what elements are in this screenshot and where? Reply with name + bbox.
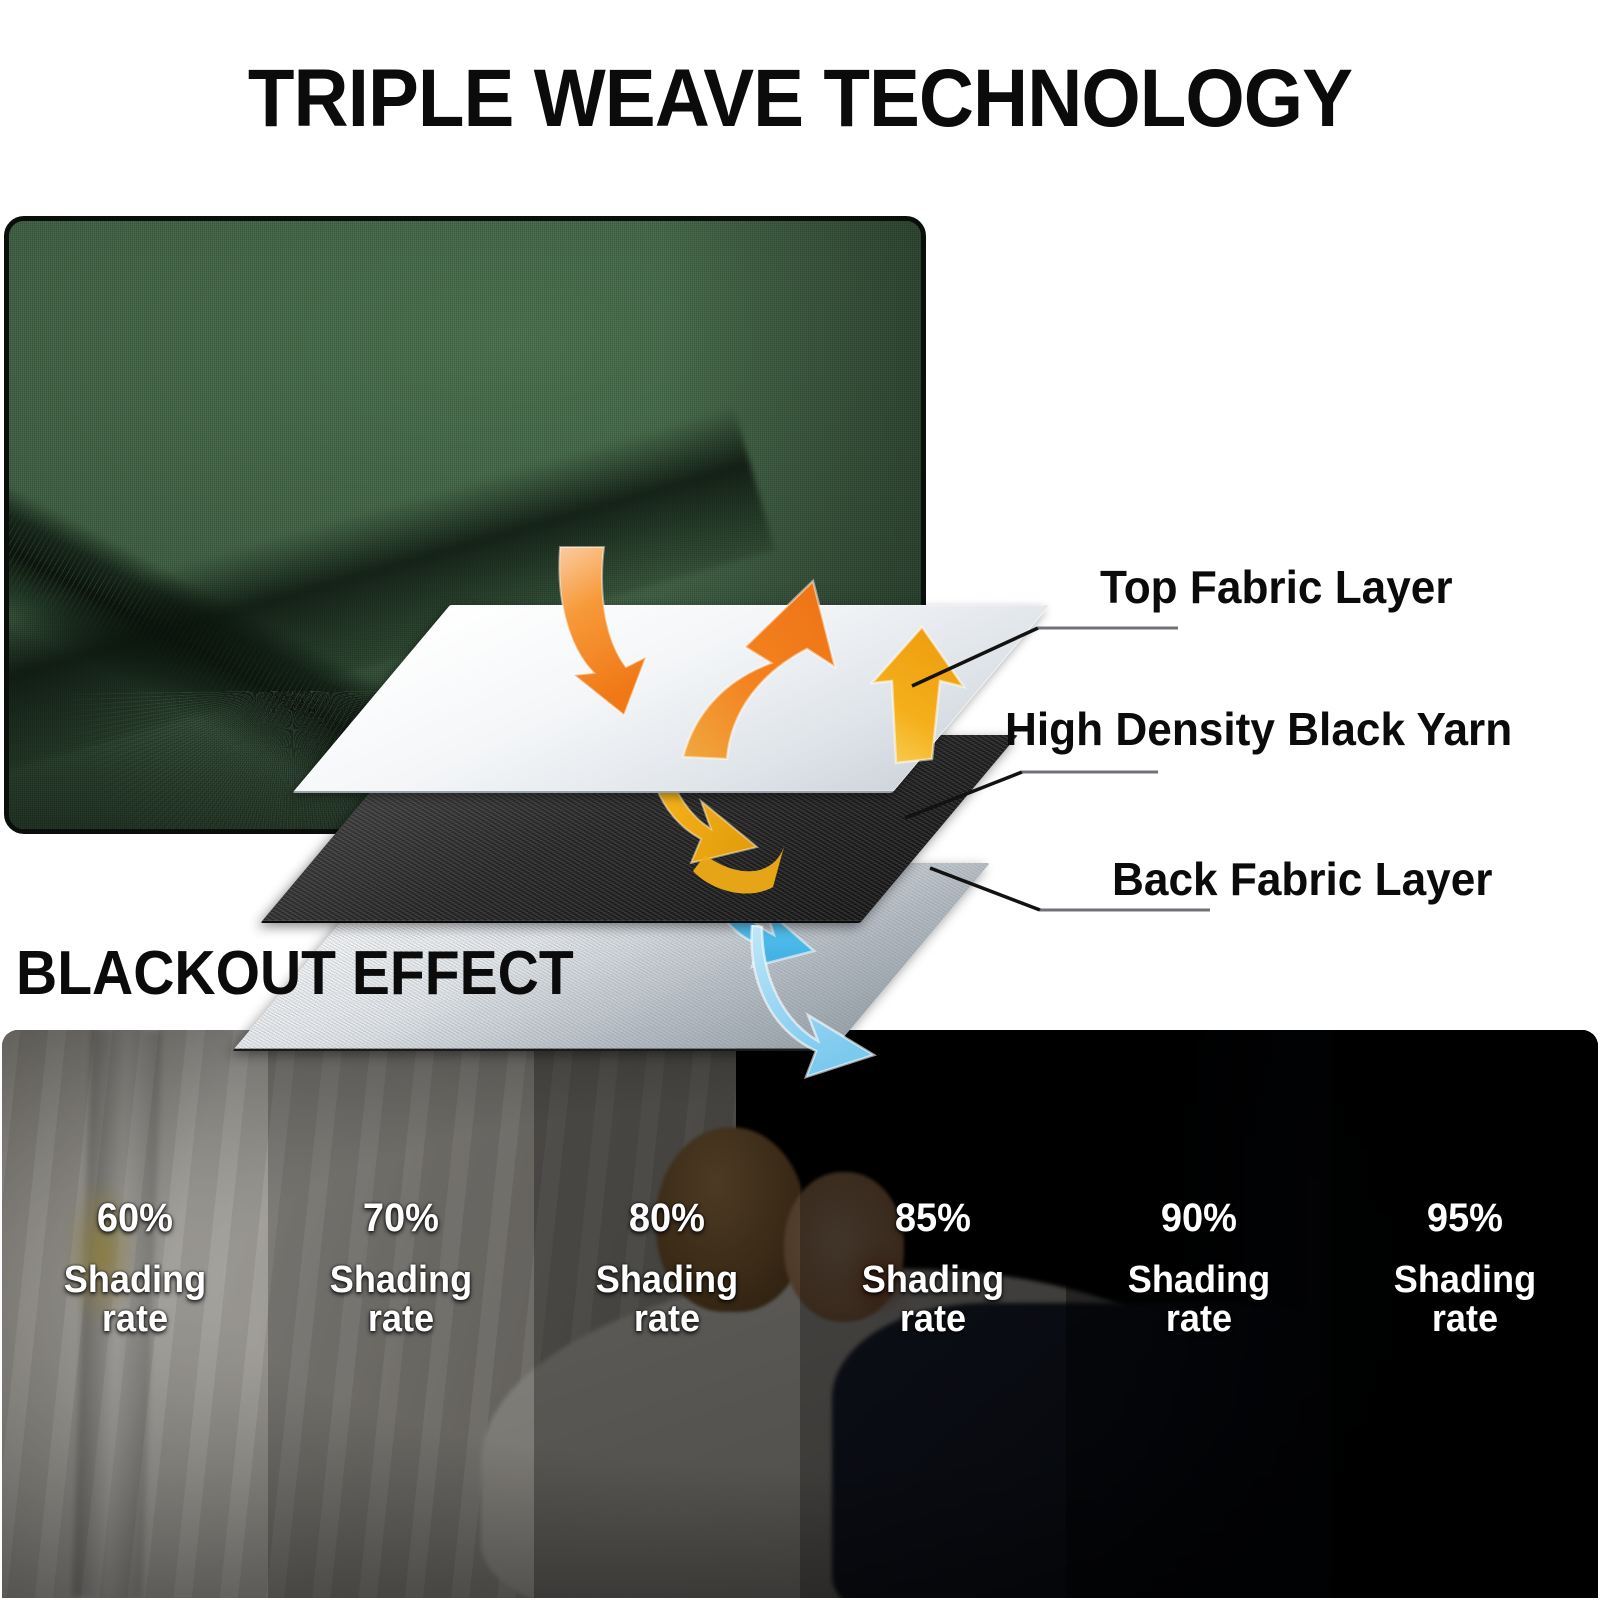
infographic-root: TRIPLE WEAVE TECHNOLOGY [0, 0, 1600, 1600]
shading-rate-column-90: 90%Shadingrate [1066, 1030, 1332, 1598]
shading-rate-label-line1: Shading [1394, 1259, 1536, 1301]
page-title: TRIPLE WEAVE TECHNOLOGY [56, 52, 1544, 146]
light-out-arrow-icon [750, 925, 880, 1105]
shading-rate-percent: 95% [1394, 1198, 1536, 1239]
leader-diagonal-mid [905, 772, 1022, 818]
shading-rate-label: Shadingrate [1128, 1261, 1270, 1339]
shading-rate-label-line1: Shading [1128, 1259, 1270, 1301]
shading-rate-percent: 90% [1128, 1198, 1270, 1239]
shading-rate-text: 60%Shadingrate [60, 1030, 210, 1338]
shading-rate-column-95: 95%Shadingrate [1332, 1030, 1598, 1598]
shading-rate-text: 95%Shadingrate [1390, 1030, 1540, 1338]
shading-rate-label-line2: rate [102, 1298, 168, 1340]
shading-rate-label-line2: rate [1432, 1298, 1498, 1340]
label-top-fabric-layer: Top Fabric Layer [1100, 560, 1453, 614]
shading-rate-label-line1: Shading [64, 1259, 206, 1301]
label-high-density-black-yarn: High Density Black Yarn [1005, 702, 1512, 756]
leader-diagonal-top [912, 628, 1038, 686]
shading-rate-percent: 60% [64, 1198, 206, 1239]
shading-rate-label-line2: rate [1166, 1298, 1232, 1340]
shading-rate-column-60: 60%Shadingrate [2, 1030, 268, 1598]
section-title-blackout-effect: BLACKOUT EFFECT [16, 938, 574, 1009]
shading-rate-label: Shadingrate [64, 1261, 206, 1339]
shading-rate-text: 90%Shadingrate [1124, 1030, 1274, 1338]
leader-diagonal-back [930, 868, 1040, 910]
shading-rate-label: Shadingrate [1394, 1261, 1536, 1339]
label-back-fabric-layer: Back Fabric Layer [1112, 852, 1492, 906]
